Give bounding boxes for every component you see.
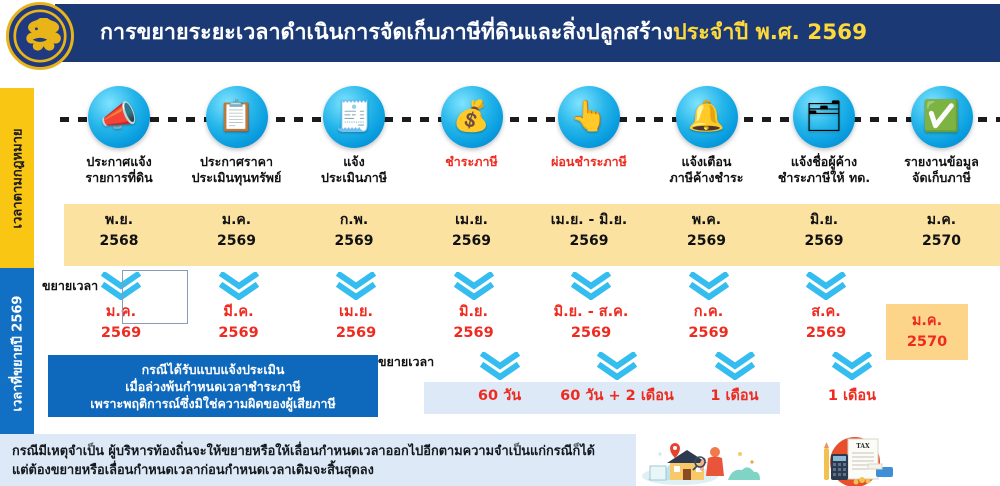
timeline-step-7[interactable]: 🗂แจ้งชื่อผู้ค้าง ชำระภาษีให้ ทด.	[765, 86, 883, 185]
legal-month-4: เม.ย.	[413, 210, 531, 231]
extension-year-6: 2569	[650, 323, 768, 344]
legal-year-7: 2569	[765, 231, 883, 252]
extension-duration-text-1: 60 วัน	[441, 384, 559, 407]
footer-note-line-2: แต่ต้องขยายหรือเลื่อนกำหนดเวลาก่อนกำหนดเ…	[12, 461, 624, 480]
extension-duration-text-3: 1 เดือน	[676, 384, 794, 407]
header-bar: การขยายระยะเวลาดำเนินการจัดเก็บภาษีที่ดิ…	[55, 4, 1000, 62]
legal-month-cell-1: พ.ย.2568	[60, 210, 178, 252]
blue-note-box: กรณีได้รับแบบแจ้งประเมิน เมื่อล่วงพ้นกำห…	[48, 355, 378, 417]
extension-duration-item-3[interactable]: 1 เดือน	[676, 352, 794, 407]
legal-month-cell-5: เม.ย. - มิ.ย.2569	[530, 210, 648, 252]
hand-coin-icon[interactable]: 👆	[558, 86, 620, 148]
extension-month-item-4[interactable]: มิ.ย.2569	[415, 268, 533, 344]
legal-month-cell-6: พ.ค.2569	[648, 210, 766, 252]
clipboard-person-icon[interactable]: 📋	[206, 86, 268, 148]
legal-month-cell-2: ม.ค.2569	[178, 210, 296, 252]
timeline-step-label-4: ชำระภาษี	[413, 154, 531, 170]
legal-year-5: 2569	[530, 231, 648, 252]
extension-duration-item-1[interactable]: 60 วัน	[441, 352, 559, 407]
megaphone-icon[interactable]: 📣	[88, 86, 150, 148]
timeline-step-8[interactable]: ✅รายงานข้อมูล จัดเก็บภาษี	[883, 86, 1000, 185]
garuda-emblem-icon	[6, 2, 74, 70]
legal-year-3: 2569	[295, 231, 413, 252]
legal-month-8: ม.ค.	[883, 210, 1000, 231]
extension-duration-text-2: 60 วัน + 2 เดือน	[558, 384, 676, 407]
extension-duration-text-4: 1 เดือน	[793, 384, 911, 407]
checklist-icon-glyph: ✅	[923, 102, 960, 132]
legal-months-band: พ.ย.2568ม.ค.2569ก.พ.2569เม.ย.2569เม.ย. -…	[64, 204, 1000, 266]
extension-year-3: 2569	[297, 323, 415, 344]
chevron-double-down-icon	[689, 272, 729, 300]
side-label-extended-time-text: เวลาที่ขยายปี 2569	[7, 295, 28, 411]
tax-calculator-icon-glyph: 🧾	[335, 102, 372, 132]
chevron-double-down-icon	[806, 272, 846, 300]
chevron-double-down-icon	[571, 272, 611, 300]
extension-months-row: ขยายเวลา ม.ค.2569มี.ค.2569เม.ย.2569มิ.ย.…	[34, 268, 1000, 360]
timeline-step-label-8: รายงานข้อมูล จัดเก็บภาษี	[883, 154, 1000, 185]
megaphone-icon-glyph: 📣	[100, 102, 137, 132]
hand-coin-icon-glyph: 👆	[570, 102, 607, 132]
extension-year-1: 2569	[62, 323, 180, 344]
svg-text:TAX: TAX	[856, 443, 870, 450]
extension-year-7: 2569	[767, 323, 885, 344]
extension-month-7: ส.ค.	[767, 302, 885, 323]
timeline-step-label-1: ประกาศแจ้ง รายการที่ดิน	[60, 154, 178, 185]
legal-month-2: ม.ค.	[178, 210, 296, 231]
selection-box[interactable]	[122, 270, 188, 324]
chevron-double-down-icon	[832, 352, 872, 380]
timeline-step-2[interactable]: 📋ประกาศราคา ประเมินทุนทรัพย์	[178, 86, 296, 185]
timeline-step-1[interactable]: 📣ประกาศแจ้ง รายการที่ดิน	[60, 86, 178, 185]
tax-document-icon-glyph: 🗂	[805, 102, 843, 132]
extension-year-5: 2569	[532, 323, 650, 344]
blue-note-line-2: เมื่อล่วงพ้นกำหนดเวลาชำระภาษี	[125, 378, 300, 395]
legal-year-2: 2569	[178, 231, 296, 252]
legal-month-cell-3: ก.พ.2569	[295, 210, 413, 252]
legal-month-7: มิ.ย.	[765, 210, 883, 231]
house-survey-illustration	[640, 436, 790, 486]
timeline-step-6[interactable]: 🔔แจ้งเตือน ภาษีค้างชำระ	[648, 86, 766, 185]
timeline-step-label-7: แจ้งชื่อผู้ค้าง ชำระภาษีให้ ทด.	[765, 154, 883, 185]
tax-document-illustration: TAX	[800, 436, 910, 486]
chevron-double-down-icon	[480, 352, 520, 380]
legal-month-6: พ.ค.	[648, 210, 766, 231]
blue-note-line-1: กรณีได้รับแบบแจ้งประเมิน	[142, 361, 285, 378]
timeline-step-label-2: ประกาศราคา ประเมินทุนทรัพย์	[178, 154, 296, 185]
timeline-step-label-5: ผ่อนชำระภาษี	[530, 154, 648, 170]
clipboard-person-icon-glyph: 📋	[218, 102, 255, 132]
extension-duration-item-4[interactable]: 1 เดือน	[793, 352, 911, 407]
money-bag-icon[interactable]: 💰	[441, 86, 503, 148]
legal-month-cell-7: มิ.ย.2569	[765, 210, 883, 252]
timeline-step-label-6: แจ้งเตือน ภาษีค้างชำระ	[648, 154, 766, 185]
legal-month-5: เม.ย. - มิ.ย.	[530, 210, 648, 231]
page-title: การขยายระยะเวลาดำเนินการจัดเก็บภาษีที่ดิ…	[55, 21, 867, 45]
extension-jan-year: 2570	[907, 332, 947, 353]
extension-jan-month: ม.ค.	[912, 311, 942, 332]
side-label-legal-time-text: เวลาตามกฎหมาย	[7, 128, 28, 228]
bell-alert-icon[interactable]: 🔔	[676, 86, 738, 148]
tax-calculator-icon[interactable]: 🧾	[323, 86, 385, 148]
legal-month-cell-8: ม.ค.2570	[883, 210, 1000, 252]
side-label-legal-time: เวลาตามกฎหมาย	[0, 88, 34, 268]
legal-year-8: 2570	[883, 231, 1000, 252]
timeline-row: 📣ประกาศแจ้ง รายการที่ดิน📋ประกาศราคา ประเ…	[60, 86, 1000, 201]
extension-month-6: ก.ค.	[650, 302, 768, 323]
footer-note-line-1: กรณีมีเหตุจำเป็น ผู้บริหารท้องถิ่นจะให้ข…	[12, 442, 624, 461]
extension-year-4: 2569	[415, 323, 533, 344]
legal-year-4: 2569	[413, 231, 531, 252]
extension-month-4: มิ.ย.	[415, 302, 533, 323]
infographic-root: การขยายระยะเวลาดำเนินการจัดเก็บภาษีที่ดิ…	[0, 0, 1000, 486]
chevron-double-down-icon	[454, 272, 494, 300]
chevron-double-down-icon	[715, 352, 755, 380]
extension-month-item-7[interactable]: ส.ค.2569	[767, 268, 885, 344]
legal-month-1: พ.ย.	[60, 210, 178, 231]
legal-year-6: 2569	[648, 231, 766, 252]
legal-month-cell-4: เม.ย.2569	[413, 210, 531, 252]
extension-month-item-2[interactable]: มี.ค.2569	[180, 268, 298, 344]
extension-month-item-3[interactable]: เม.ย.2569	[297, 268, 415, 344]
chevron-double-down-icon	[336, 272, 376, 300]
checklist-icon[interactable]: ✅	[911, 86, 973, 148]
page-title-main: การขยายระยะเวลาดำเนินการจัดเก็บภาษีที่ดิ…	[100, 20, 673, 45]
tax-document-icon[interactable]: 🗂	[793, 86, 855, 148]
timeline-step-3[interactable]: 🧾แจ้ง ประเมินภาษี	[295, 86, 413, 185]
timeline-step-4[interactable]: 💰ชำระภาษี	[413, 86, 531, 170]
extension-duration-item-2[interactable]: 60 วัน + 2 เดือน	[558, 352, 676, 407]
money-bag-icon-glyph: 💰	[453, 102, 490, 132]
blue-note-line-3: เพราะพฤติการณ์ซึ่งมิใช่ความผิดของผู้เสีย…	[90, 395, 335, 412]
extension-year-2: 2569	[180, 323, 298, 344]
timeline-step-5[interactable]: 👆ผ่อนชำระภาษี	[530, 86, 648, 170]
extension-month-3: เม.ย.	[297, 302, 415, 323]
side-label-extended-time: เวลาที่ขยายปี 2569	[0, 268, 34, 438]
extension-month-5: มิ.ย. - ส.ค.	[532, 302, 650, 323]
extension-month-2: มี.ค.	[180, 302, 298, 323]
chevron-double-down-icon	[597, 352, 637, 380]
page-title-year: ประจำปี พ.ศ. 2569	[673, 20, 867, 45]
timeline-step-label-3: แจ้ง ประเมินภาษี	[295, 154, 413, 185]
extension-month-item-6[interactable]: ก.ค.2569	[650, 268, 768, 344]
extension-month-item-5[interactable]: มิ.ย. - ส.ค.2569	[532, 268, 650, 344]
chevron-double-down-icon	[219, 272, 259, 300]
extension-duration-label: ขยายเวลา	[378, 352, 434, 372]
footer-note-box: กรณีมีเหตุจำเป็น ผู้บริหารท้องถิ่นจะให้ข…	[0, 434, 636, 486]
bell-alert-icon-glyph: 🔔	[688, 102, 725, 132]
legal-year-1: 2568	[60, 231, 178, 252]
legal-month-3: ก.พ.	[295, 210, 413, 231]
